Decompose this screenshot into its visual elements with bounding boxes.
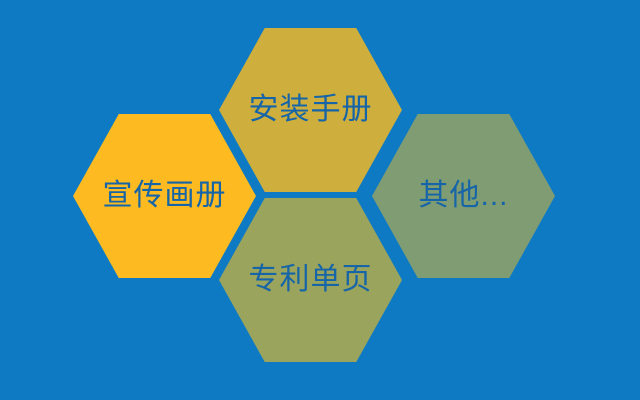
- hexagon-cell-patent[interactable]: 专利单页: [219, 198, 402, 362]
- hexagon-label-other: 其他...: [418, 181, 508, 211]
- hexagon-label-manual: 安装手册: [249, 95, 373, 125]
- hexagon-cell-brochure[interactable]: 宣传画册: [73, 114, 256, 278]
- hexagon-cell-manual[interactable]: 安装手册: [219, 28, 402, 192]
- hexagon-label-patent: 专利单页: [249, 265, 373, 295]
- hexagon-label-brochure: 宣传画册: [103, 181, 227, 211]
- hexagon-cell-other[interactable]: 其他...: [372, 114, 555, 278]
- diagram-canvas: 宣传画册 安装手册 专利单页 其他...: [0, 0, 640, 400]
